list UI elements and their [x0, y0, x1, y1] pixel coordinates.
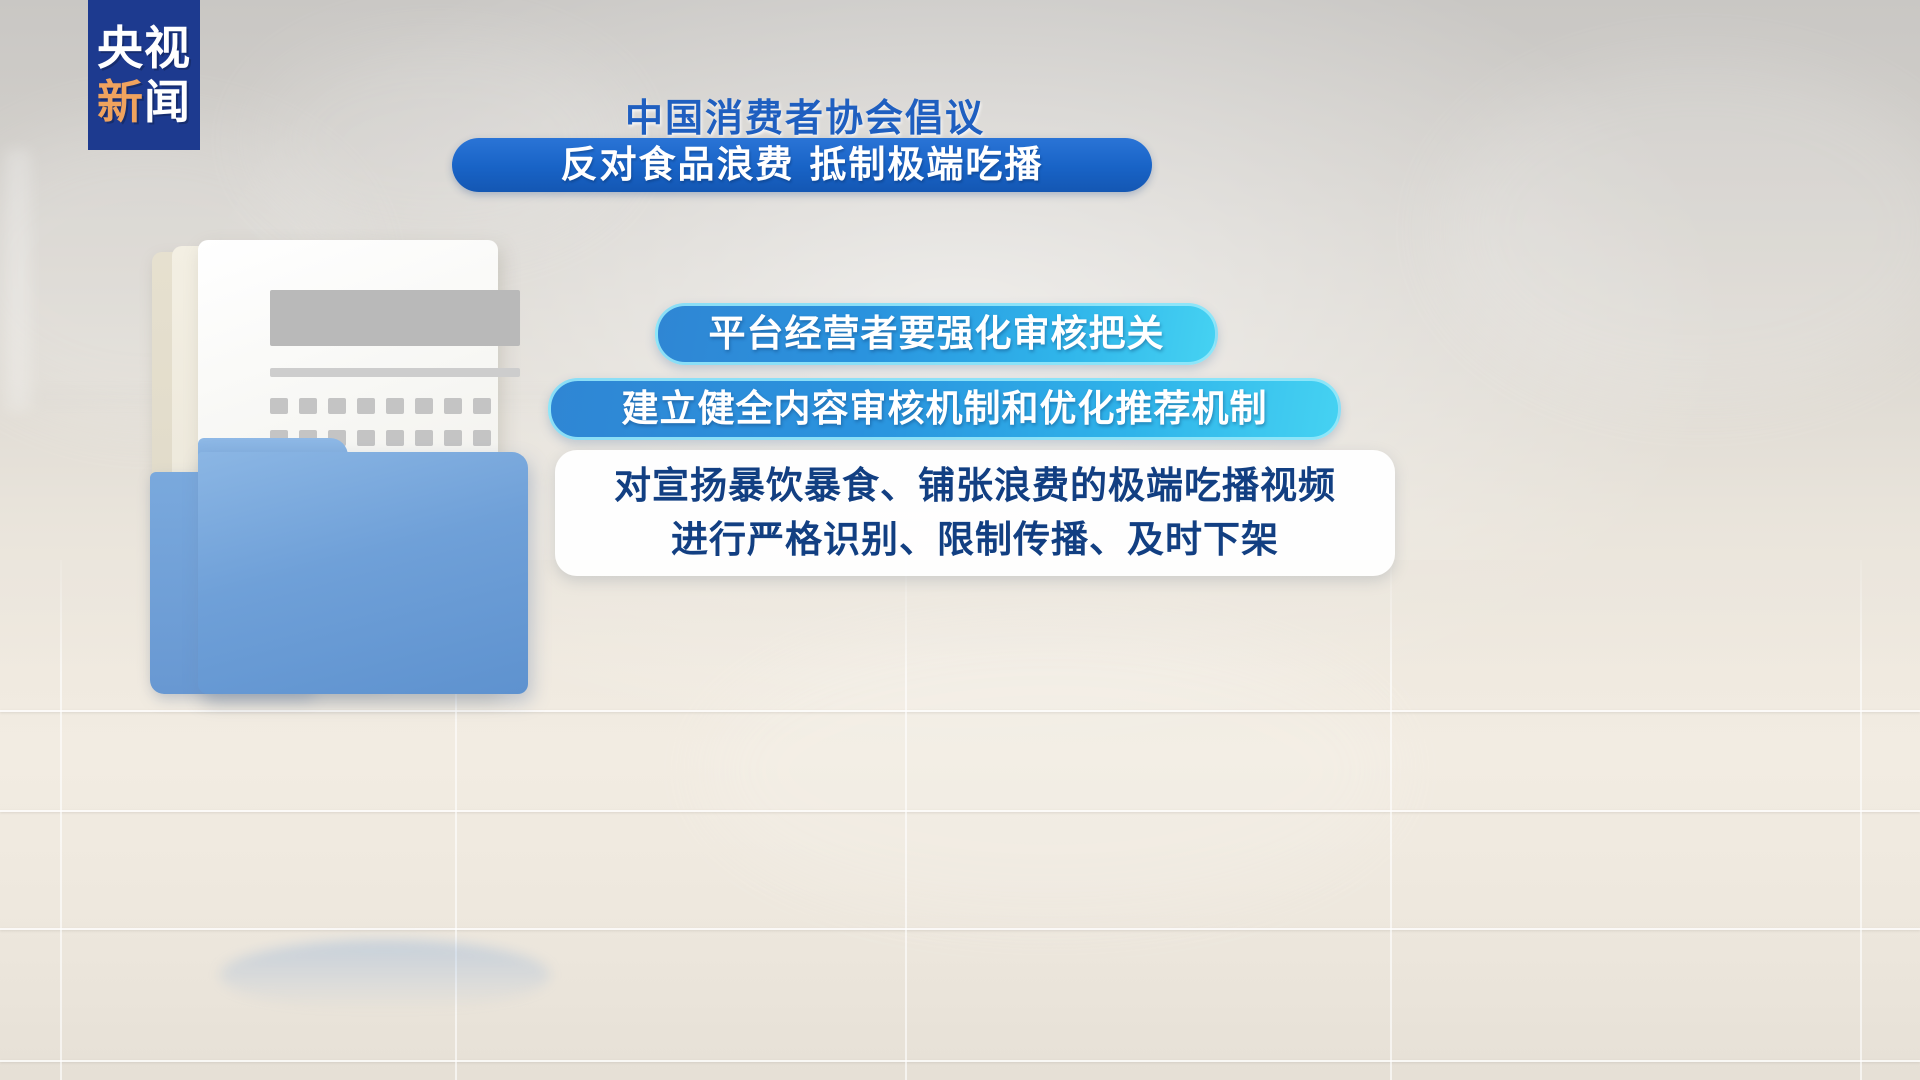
point-item-1-label: 平台经营者要强化审核把关 [709, 314, 1165, 354]
point-item-2-label: 建立健全内容审核机制和优化推荐机制 [622, 389, 1268, 429]
headline-banner-text: 反对食品浪费 抵制极端吃播 [561, 145, 1044, 185]
logo-line-1: 央视 [97, 22, 191, 74]
point-item-1: 平台经营者要强化审核把关 [655, 303, 1218, 365]
logo-line-2-accent: 新 [97, 75, 144, 129]
headline-banner: 反对食品浪费 抵制极端吃播 [452, 138, 1152, 192]
headline-kicker-wrapper: 中国消费者协会倡议 [455, 96, 1155, 140]
folder-front [198, 452, 528, 694]
logo-line-2-rest: 闻 [144, 75, 191, 129]
point-item-2: 建立健全内容审核机制和优化推荐机制 [548, 378, 1341, 440]
document-line [270, 368, 520, 377]
cctv-news-logo: 央视 新闻 [88, 0, 200, 150]
detail-box-line-2: 进行严格识别、限制传播、及时下架 [671, 513, 1279, 567]
document-header-bar [270, 290, 520, 346]
background-blur-blob [700, 620, 1400, 920]
headline-kicker: 中国消费者协会倡议 [455, 96, 1155, 140]
background-blur-blob [1440, 60, 1920, 400]
detail-box-line-1: 对宣扬暴饮暴食、铺张浪费的极端吃播视频 [614, 459, 1336, 513]
document-folder-illustration [150, 240, 570, 720]
illustration-reflection [220, 940, 550, 1010]
broadcast-graphic-frame: 央视 新闻 中国消费者协会倡议 反对食品浪费 抵制极端吃播 平台经营者 [0, 0, 1920, 1080]
logo-line-2: 新闻 [97, 76, 191, 128]
detail-box: 对宣扬暴饮暴食、铺张浪费的极端吃播视频 进行严格识别、限制传播、及时下架 [555, 450, 1395, 576]
document-dot-row [270, 398, 491, 414]
